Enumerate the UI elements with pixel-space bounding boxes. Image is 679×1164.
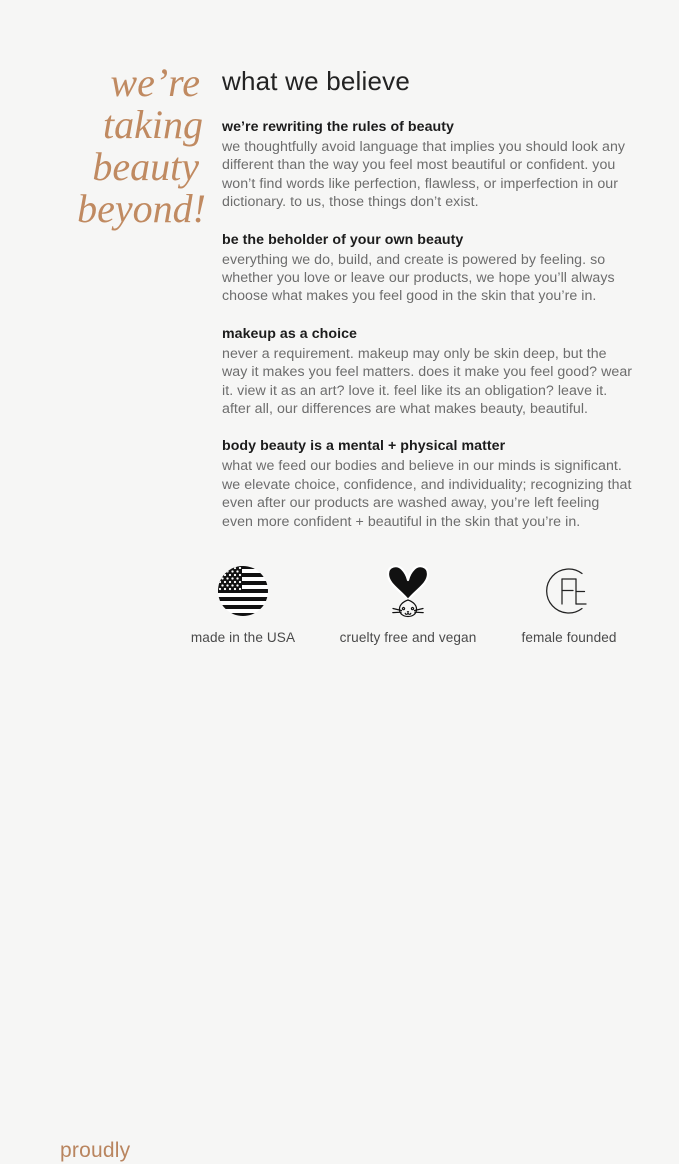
badge-made-in-usa: made in the USA bbox=[148, 562, 338, 647]
female-founded-monogram-icon bbox=[474, 562, 664, 620]
usa-flag-circle-icon bbox=[148, 562, 338, 620]
badge-made-in-usa-caption: made in the USA bbox=[148, 629, 338, 647]
value-section-3: makeup as a choice never a requirement. … bbox=[222, 325, 634, 419]
value-section-4-body: what we feed our bodies and believe in o… bbox=[222, 457, 634, 531]
brand-headline: we’re taking beauty beyond! bbox=[0, 62, 212, 230]
headline-line-1: we’re bbox=[0, 62, 212, 104]
badge-row: proudly bbox=[0, 562, 679, 672]
value-section-1-body: we thoughtfully avoid language that impl… bbox=[222, 138, 634, 212]
value-section-2: be the beholder of your own beauty every… bbox=[222, 231, 634, 306]
page-title: what we believe bbox=[222, 66, 634, 96]
headline-line-4: beyond! bbox=[0, 188, 212, 230]
value-section-1-title: we’re rewriting the rules of beauty bbox=[222, 118, 634, 137]
badge-female-founded-caption: female founded bbox=[474, 629, 664, 647]
values-content: what we believe we’re rewriting the rule… bbox=[222, 66, 634, 531]
brand-values-panel: we’re taking beauty beyond! what we beli… bbox=[0, 0, 679, 679]
value-section-2-title: be the beholder of your own beauty bbox=[222, 231, 634, 250]
value-section-1: we’re rewriting the rules of beauty we t… bbox=[222, 118, 634, 212]
value-section-3-body: never a requirement. makeup may only be … bbox=[222, 345, 634, 419]
value-section-2-body: everything we do, build, and create is p… bbox=[222, 251, 634, 306]
value-section-4: body beauty is a mental + physical matte… bbox=[222, 437, 634, 531]
value-section-3-title: makeup as a choice bbox=[222, 325, 634, 344]
headline-line-3: beauty bbox=[0, 146, 212, 188]
proudly-label: proudly bbox=[60, 1138, 130, 1164]
headline-line-2: taking bbox=[0, 104, 212, 146]
badge-female-founded: female founded bbox=[474, 562, 664, 647]
value-section-4-title: body beauty is a mental + physical matte… bbox=[222, 437, 634, 456]
